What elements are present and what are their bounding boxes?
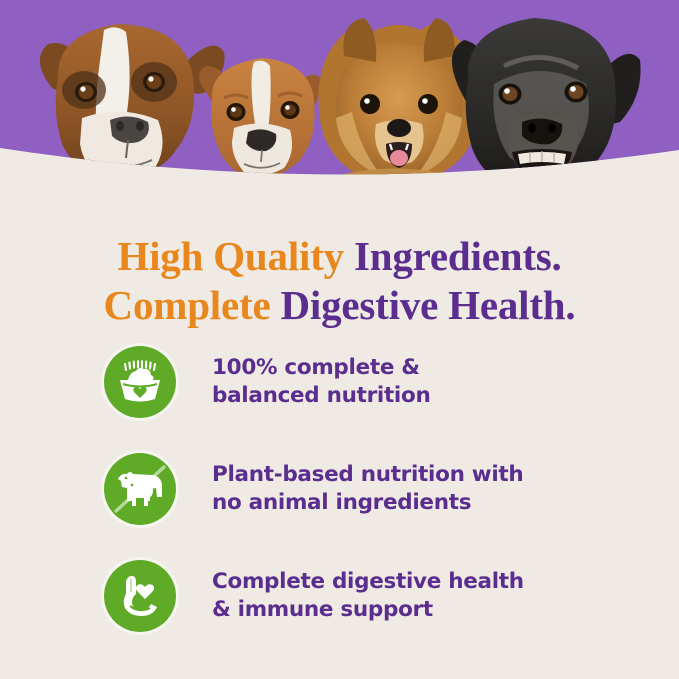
puppy-dog: [199, 58, 320, 200]
benefit-line-1: Complete digestive health: [212, 568, 524, 596]
benefit-item: Complete digestive health & immune suppo…: [104, 558, 624, 634]
hero-banner: [0, 0, 679, 200]
benefit-line-1: 100% complete &: [212, 354, 430, 382]
hero-dogs-illustration: [0, 0, 679, 200]
headline-line-1: High Quality Ingredients.: [0, 232, 679, 281]
benefit-item: 100% complete & balanced nutrition: [104, 344, 624, 420]
benefit-line-2: no animal ingredients: [212, 489, 523, 517]
benefit-line-2: balanced nutrition: [212, 382, 430, 410]
food-bowl-heart-icon: [113, 355, 167, 409]
benefit-icon-badge: [104, 560, 176, 632]
headline-line1-orange: High Quality: [117, 233, 354, 279]
benefit-text: Complete digestive health & immune suppo…: [212, 568, 524, 624]
headline-line1-purple: Ingredients.: [354, 233, 562, 279]
benefit-icon-badge: [104, 346, 176, 418]
headline-line2-purple: Digestive Health.: [281, 282, 576, 328]
stomach-heart-icon: [112, 568, 168, 624]
benefit-text: Plant-based nutrition with no animal ing…: [212, 461, 523, 517]
no-animal-ingredients-icon: [112, 461, 168, 517]
headline-line2-orange: Complete: [104, 282, 281, 328]
benefits-list: 100% complete & balanced nutrition: [104, 344, 624, 634]
benefit-line-2: & immune support: [212, 596, 524, 624]
product-benefits-poster: High Quality Ingredients. Complete Diges…: [0, 0, 679, 679]
benefit-icon-badge: [104, 453, 176, 525]
headline-line-2: Complete Digestive Health.: [0, 281, 679, 330]
benefit-item: Plant-based nutrition with no animal ing…: [104, 451, 624, 527]
benefit-text: 100% complete & balanced nutrition: [212, 354, 430, 410]
page-headline: High Quality Ingredients. Complete Diges…: [0, 232, 679, 330]
benefit-line-1: Plant-based nutrition with: [212, 461, 523, 489]
